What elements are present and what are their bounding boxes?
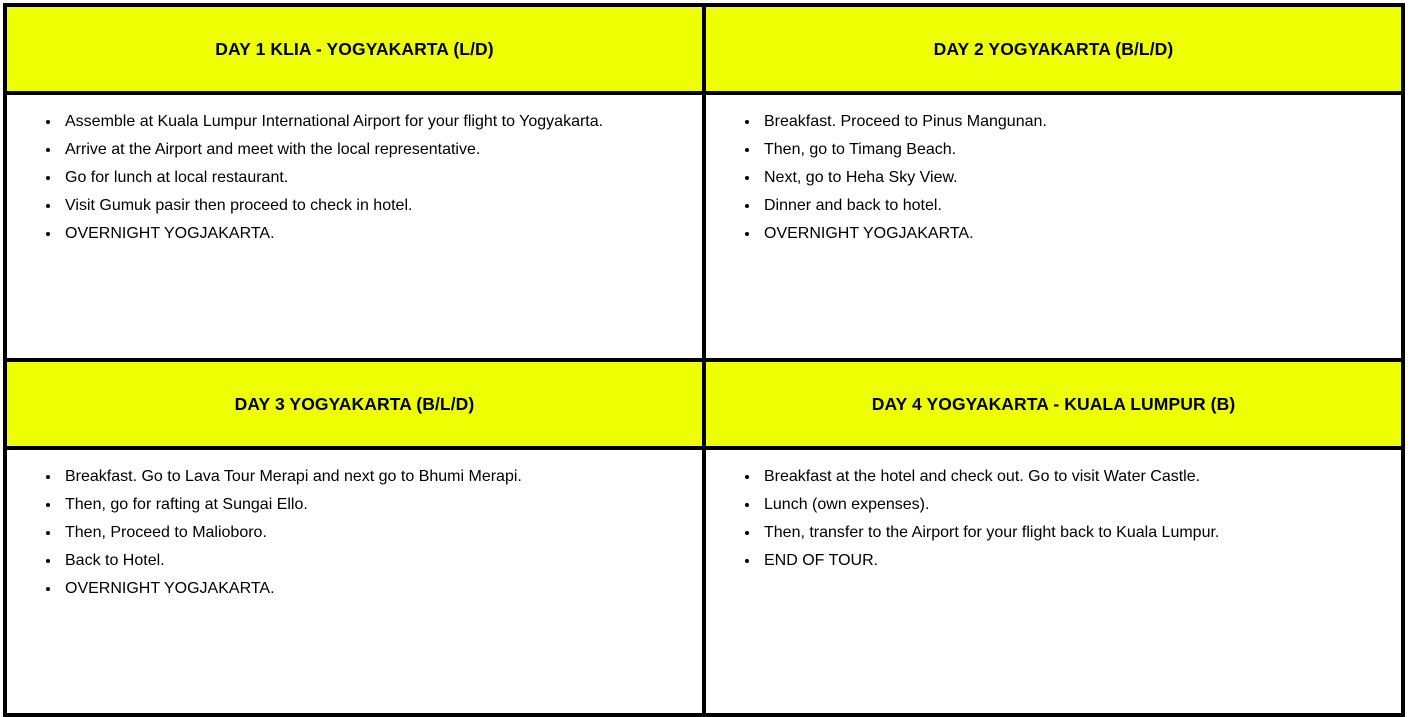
day-itinerary-list-3: Breakfast. Go to Lava Tour Merapi and ne… xyxy=(7,450,702,603)
list-item: Next, go to Heha Sky View. xyxy=(760,164,1387,192)
list-item: Back to Hotel. xyxy=(61,547,688,575)
list-item: OVERNIGHT YOGJAKARTA. xyxy=(61,575,688,603)
day-title-1: DAY 1 KLIA - YOGYAKARTA (L/D) xyxy=(7,7,702,91)
day-itinerary-list-1: Assemble at Kuala Lumpur International A… xyxy=(7,95,702,248)
table-row-headers-2: DAY 3 YOGYAKARTA (B/L/D) DAY 4 YOGYAKART… xyxy=(5,360,1403,448)
day-header-cell-4: DAY 4 YOGYAKARTA - KUALA LUMPUR (B) xyxy=(704,360,1403,448)
table-row-headers-1: DAY 1 KLIA - YOGYAKARTA (L/D) DAY 2 YOGY… xyxy=(5,5,1403,93)
itinerary-container: DAY 1 KLIA - YOGYAKARTA (L/D) DAY 2 YOGY… xyxy=(0,0,1413,707)
list-item: Visit Gumuk pasir then proceed to check … xyxy=(61,192,688,220)
day-title-4: DAY 4 YOGYAKARTA - KUALA LUMPUR (B) xyxy=(706,362,1401,446)
table-row-bodies-2: Breakfast. Go to Lava Tour Merapi and ne… xyxy=(5,448,1403,715)
list-item: Then, go to Timang Beach. xyxy=(760,136,1387,164)
day-body-cell-4: Breakfast at the hotel and check out. Go… xyxy=(704,448,1403,715)
list-item: OVERNIGHT YOGJAKARTA. xyxy=(61,220,688,248)
list-item: Go for lunch at local restaurant. xyxy=(61,164,688,192)
list-item: Then, Proceed to Malioboro. xyxy=(61,519,688,547)
day-header-cell-1: DAY 1 KLIA - YOGYAKARTA (L/D) xyxy=(5,5,704,93)
day-itinerary-list-4: Breakfast at the hotel and check out. Go… xyxy=(706,450,1401,575)
list-item: Lunch (own expenses). xyxy=(760,491,1387,519)
list-item: Then, go for rafting at Sungai Ello. xyxy=(61,491,688,519)
day-body-cell-1: Assemble at Kuala Lumpur International A… xyxy=(5,93,704,360)
table-row-bodies-1: Assemble at Kuala Lumpur International A… xyxy=(5,93,1403,360)
list-item: Dinner and back to hotel. xyxy=(760,192,1387,220)
list-item: Assemble at Kuala Lumpur International A… xyxy=(61,108,688,136)
day-title-3: DAY 3 YOGYAKARTA (B/L/D) xyxy=(7,362,702,446)
list-item: Then, transfer to the Airport for your f… xyxy=(760,519,1387,547)
list-item: OVERNIGHT YOGJAKARTA. xyxy=(760,220,1387,248)
day-body-cell-2: Breakfast. Proceed to Pinus Mangunan. Th… xyxy=(704,93,1403,360)
list-item: Breakfast. Go to Lava Tour Merapi and ne… xyxy=(61,463,688,491)
day-body-cell-3: Breakfast. Go to Lava Tour Merapi and ne… xyxy=(5,448,704,715)
day-itinerary-list-2: Breakfast. Proceed to Pinus Mangunan. Th… xyxy=(706,95,1401,248)
list-item: END OF TOUR. xyxy=(760,547,1387,575)
day-header-cell-3: DAY 3 YOGYAKARTA (B/L/D) xyxy=(5,360,704,448)
itinerary-table: DAY 1 KLIA - YOGYAKARTA (L/D) DAY 2 YOGY… xyxy=(3,3,1405,717)
list-item: Arrive at the Airport and meet with the … xyxy=(61,136,688,164)
list-item: Breakfast at the hotel and check out. Go… xyxy=(760,463,1387,491)
day-title-2: DAY 2 YOGYAKARTA (B/L/D) xyxy=(706,7,1401,91)
day-header-cell-2: DAY 2 YOGYAKARTA (B/L/D) xyxy=(704,5,1403,93)
list-item: Breakfast. Proceed to Pinus Mangunan. xyxy=(760,108,1387,136)
